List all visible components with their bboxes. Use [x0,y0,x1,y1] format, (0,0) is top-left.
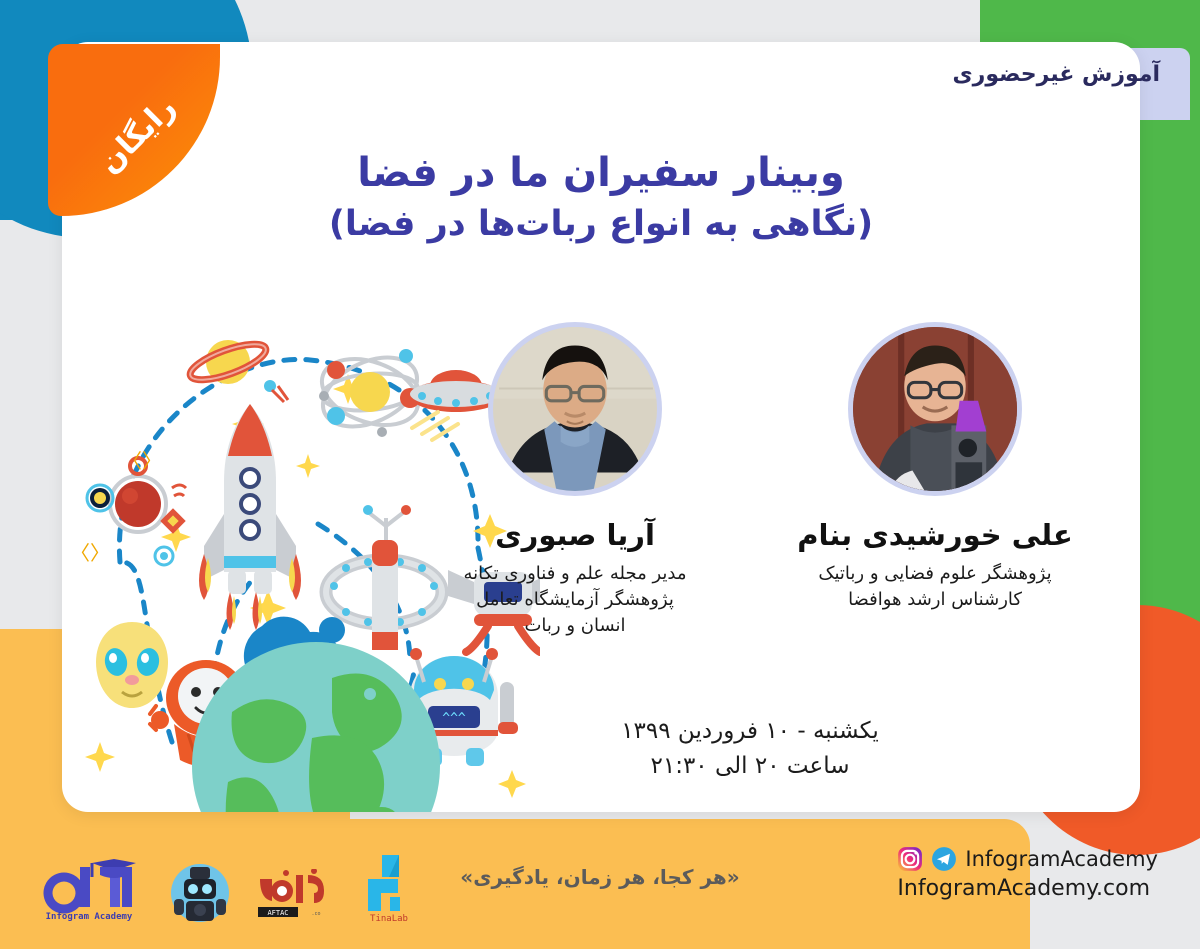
telegram-icon[interactable] [931,846,957,872]
svg-text:AFTAC: AFTAC [267,909,288,917]
speaker-card: علی خورشیدی بنام پژوهشگر علوم فضایی و رب… [790,322,1080,639]
speaker-photo-aria-sabouri [488,322,662,496]
speakers-row: علی خورشیدی بنام پژوهشگر علوم فضایی و رب… [380,322,1080,639]
footer: TinaLab AFTAC co. [0,809,1200,949]
title-line-1: وبینار سفیران ما در فضا [62,148,1140,198]
time-line: ساعت ۲۰ الی ۲۱:۳۰ [540,749,960,784]
speaker-role-line: مدیر مجله علم و فناوری تکانه [430,561,720,587]
website-text: InfogramAcademy.com [897,876,1158,901]
partner-logos: TinaLab AFTAC co. [34,851,418,927]
title-block: وبینار سفیران ما در فضا (نگاهی به انواع … [62,148,1140,248]
poster-root: آموزش غیرحضوری وبینار سفیران ما در فضا (… [0,0,1200,949]
blue-dot [319,617,345,643]
speaker-name: علی خورشیدی بنام [790,518,1080,553]
datetime-block: یکشنبه - ۱۰ فروردین ۱۳۹۹ ساعت ۲۰ الی ۲۱:… [540,714,960,783]
date-line: یکشنبه - ۱۰ فروردین ۱۳۹۹ [540,714,960,749]
title-line-2: (نگاهی به انواع ربات‌ها در فضا) [62,202,1140,248]
svg-text:TinaLab: TinaLab [370,914,408,923]
social-handle-text: InfogramAcademy [965,847,1158,871]
svg-text:Infogram Academy: Infogram Academy [46,912,133,922]
speaker-role: پژوهشگر علوم فضایی و رباتیک کارشناس ارشد… [790,561,1080,613]
rocket [199,404,301,630]
tinalab-logo: TinaLab [360,851,418,927]
speaker-role-line: پژوهشگر علوم فضایی و رباتیک [790,561,1080,587]
svg-text:〈〉: 〈〉 [122,449,162,473]
svg-text:^^^: ^^^ [442,711,466,726]
speaker-card: آریا صبوری مدیر مجله علم و فناوری تکانه … [430,322,720,639]
speaker-role-line: کارشناس ارشد هوافضا [790,587,1080,613]
remote-education-label: آموزش غیرحضوری [953,62,1161,87]
social-handle-row[interactable]: InfogramAcademy [897,846,1158,872]
instagram-icon[interactable] [897,846,923,872]
red-planet: 〈〉 〈〉 [80,449,186,565]
speaker-photo-ali-khorshidi-benam [848,322,1022,496]
speaker-name: آریا صبوری [430,518,720,553]
speaker-role: مدیر مجله علم و فناوری تکانه پژوهشگر آزم… [430,561,720,639]
content-card: وبینار سفیران ما در فضا (نگاهی به انواع … [62,42,1140,812]
speaker-role-line: انسان و ربات [430,613,720,639]
social-block: InfogramAcademy InfogramAcademy.com [897,846,1158,901]
svg-text:〈〉: 〈〉 [80,541,110,565]
svg-text:co.: co. [311,911,320,917]
alien-head [96,622,168,708]
speaker-role-line: پژوهشگر آزمایشگاه تعامل [430,587,720,613]
